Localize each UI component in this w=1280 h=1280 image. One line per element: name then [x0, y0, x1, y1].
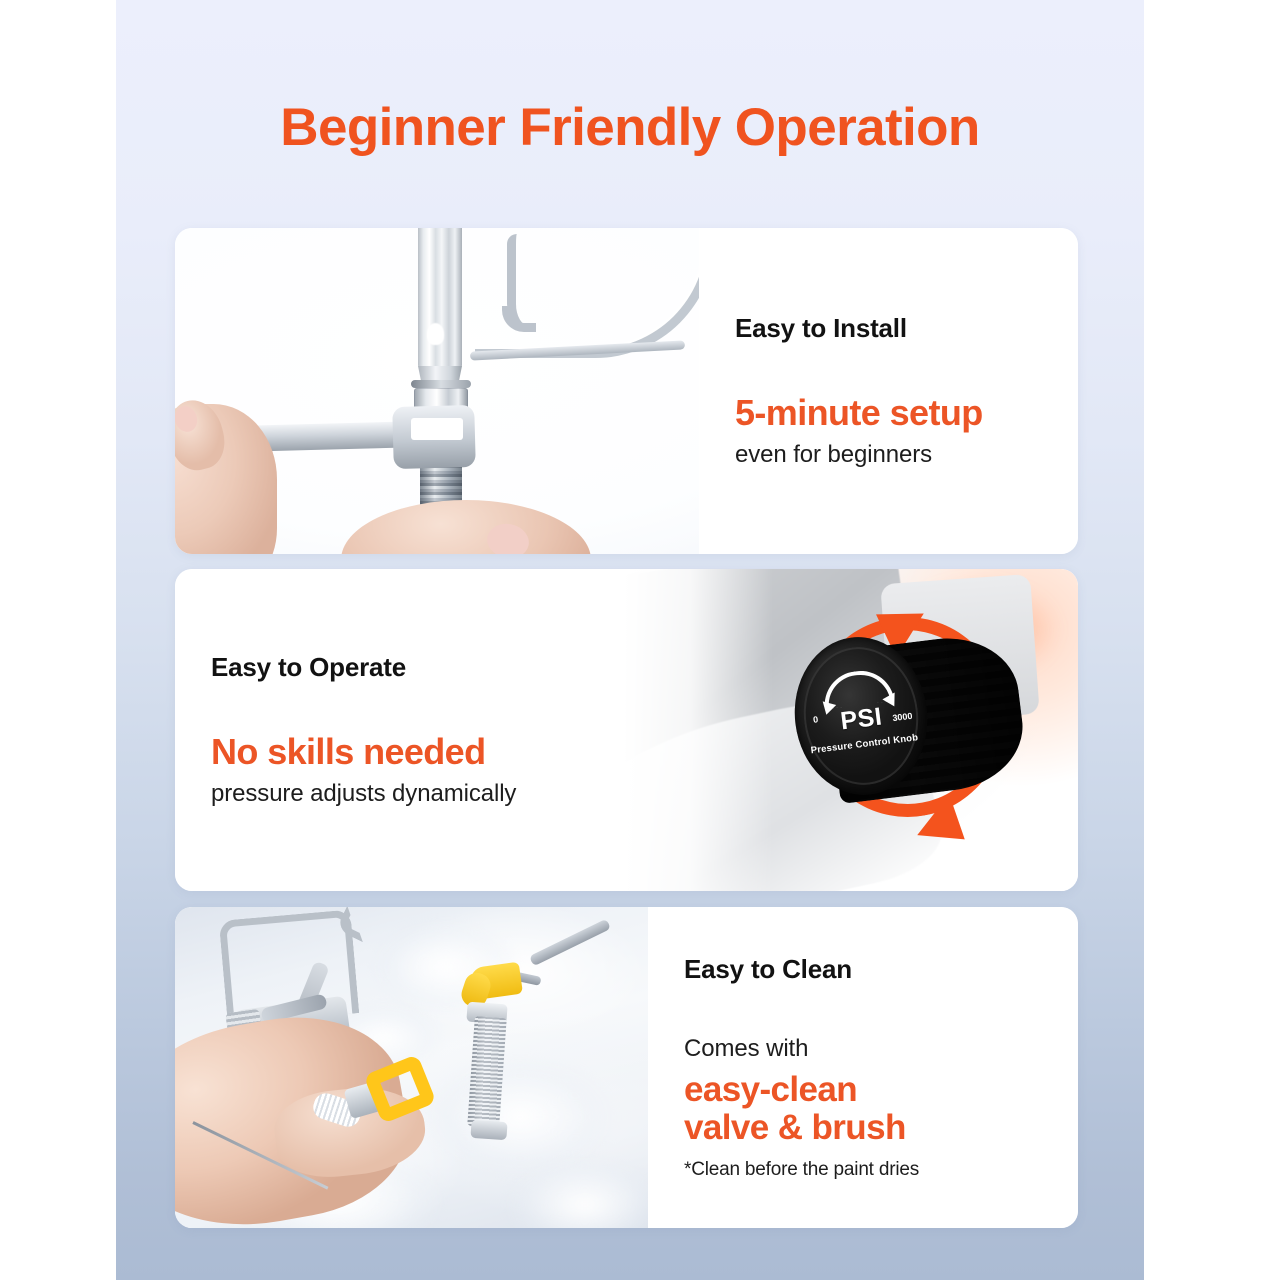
- card-headline-line1: easy-clean: [684, 1071, 1042, 1109]
- card-eyebrow: Easy to Operate: [211, 652, 587, 683]
- card-footnote: *Clean before the paint dries: [684, 1159, 1042, 1181]
- install-text-pane: Easy to Install 5-minute setup even for …: [699, 228, 1078, 554]
- knob-face-labels: 0 PSI 3000 Pressure Control Knob: [796, 641, 926, 792]
- card-subtext: Comes with: [684, 1035, 1042, 1063]
- clean-text-pane: Easy to Clean Comes with easy-clean valv…: [648, 907, 1078, 1228]
- card-headline: 5-minute setup: [735, 394, 1042, 433]
- card-headline: No skills needed: [211, 733, 587, 772]
- coupler-ring-icon: [411, 380, 471, 388]
- card-eyebrow: Easy to Install: [735, 313, 1042, 344]
- clean-photo: [175, 907, 648, 1228]
- page-title: Beginner Friendly Operation: [116, 98, 1144, 159]
- feature-card-easy-to-install: Easy to Install 5-minute setup even for …: [175, 228, 1078, 554]
- knob-photo: 0 PSI 3000 Pressure Control Knob: [623, 569, 1078, 891]
- filter-cap-bottom: [470, 1120, 507, 1140]
- tube-highlight: [427, 323, 444, 345]
- operate-text-pane: Easy to Operate No skills needed pressur…: [175, 569, 623, 891]
- install-photo: [175, 228, 699, 554]
- card-eyebrow: Easy to Clean: [684, 954, 1042, 985]
- card-headline-line2: valve & brush: [684, 1109, 1042, 1147]
- wrench-jaw-gap: [411, 418, 463, 440]
- feature-card-easy-to-clean: Easy to Clean Comes with easy-clean valv…: [175, 907, 1078, 1228]
- feature-card-easy-to-operate: 0 PSI 3000 Pressure Control Knob Easy to…: [175, 569, 1078, 891]
- extension-tube-icon: [418, 228, 462, 368]
- card-subtext: even for beginners: [735, 441, 1042, 469]
- infographic-page: Beginner Friendly Operation: [0, 0, 1280, 1280]
- card-subtext: pressure adjusts dynamically: [211, 780, 587, 808]
- photo-left-fade: [623, 569, 773, 891]
